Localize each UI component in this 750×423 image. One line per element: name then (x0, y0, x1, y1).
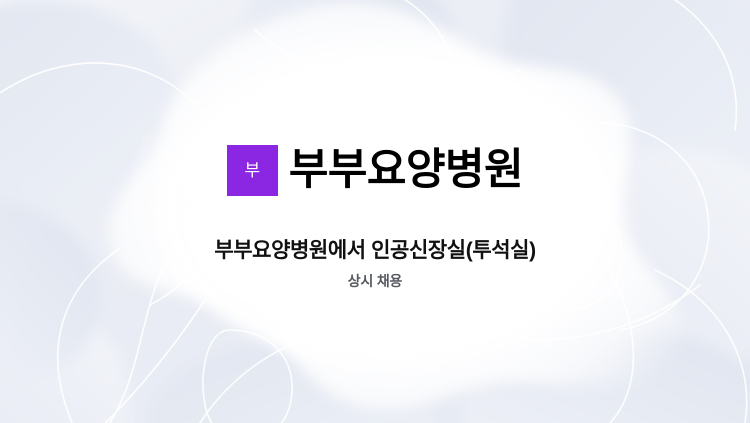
subheadline-text: 상시 채용 (0, 272, 750, 290)
poster-content: 부 부부요양병원 부부요양병원에서 인공신장실(투석실) 상시 채용 (0, 0, 750, 423)
company-logo-badge: 부 (227, 145, 278, 196)
company-name: 부부요양병원 (289, 149, 523, 192)
logo-lockup: 부 부부요양병원 (0, 145, 750, 196)
headline-text: 부부요양병원에서 인공신장실(투석실) (0, 238, 750, 264)
recruitment-poster: 부 부부요양병원 부부요양병원에서 인공신장실(투석실) 상시 채용 (0, 0, 750, 423)
logo-badge-glyph: 부 (244, 162, 260, 179)
